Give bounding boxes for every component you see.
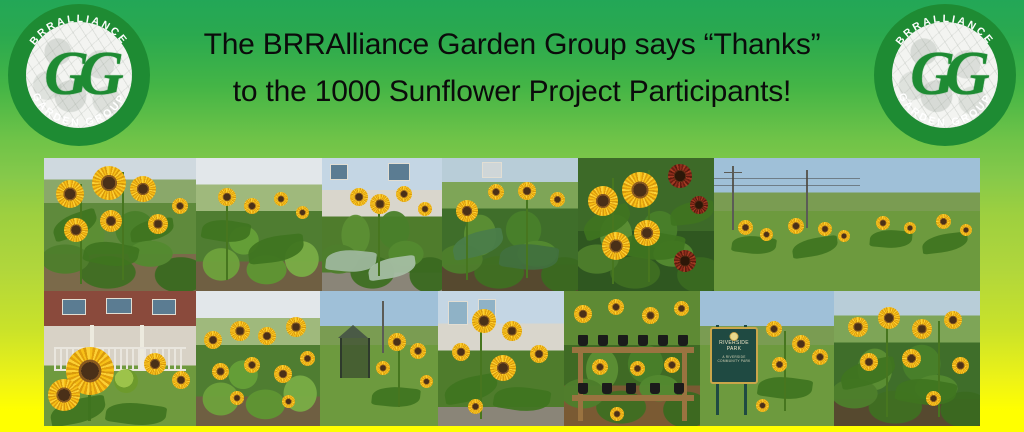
riverside-park-sign: RIVERSIDE PARK A RIVERSIDE COMMUNITY PAR… (710, 327, 758, 384)
stem (526, 188, 528, 278)
foliage-texture (442, 158, 578, 291)
headline-line-2: to the 1000 Sunflower Project Participan… (152, 69, 872, 116)
plant-pot (578, 335, 588, 346)
plant-pot (626, 383, 636, 394)
photo-p13: RIVERSIDE PARK A RIVERSIDE COMMUNITY PAR… (700, 291, 834, 426)
banner-headline: The BRRAlliance Garden Group says “Thank… (152, 22, 872, 115)
leaf (371, 385, 421, 410)
sunflower (258, 327, 276, 345)
plant-pot (674, 383, 684, 394)
sunflower (818, 222, 832, 236)
plant-shelf (572, 347, 694, 353)
sunflower (592, 359, 608, 375)
sunflower (848, 317, 868, 337)
sunflower (274, 192, 288, 206)
sunflower (936, 214, 951, 229)
utility-pole (382, 301, 384, 353)
sunflower (218, 188, 236, 206)
window (106, 298, 132, 314)
photo-p8 (44, 291, 196, 426)
sunflower (350, 188, 368, 206)
plant-pot (638, 335, 648, 346)
sunflower (792, 335, 810, 353)
photo-row-bottom: RIVERSIDE PARK A RIVERSIDE COMMUNITY PAR… (44, 291, 980, 426)
sunflower (766, 321, 782, 337)
plant-pot (658, 335, 668, 346)
leaf (492, 383, 551, 415)
sunflower (876, 216, 890, 230)
photo-p7 (860, 158, 980, 291)
photo-p3 (322, 158, 442, 291)
sunflower (756, 399, 769, 412)
sunflower (230, 321, 250, 341)
plant-pot (598, 335, 608, 346)
sunflower (490, 355, 516, 381)
sunflower (456, 200, 478, 222)
power-line (714, 185, 860, 186)
sunflower (282, 395, 295, 408)
photo-p10 (320, 291, 438, 426)
sunflower (518, 182, 536, 200)
sunflower (472, 309, 496, 333)
sunflower (952, 357, 969, 374)
gazebo-roof (338, 325, 368, 338)
sunflower (244, 357, 260, 373)
brralliance-garden-group-logo-left: GG BRRALLIANCE GARDEN GROUP (8, 4, 150, 146)
photo-p2 (196, 158, 322, 291)
plant-pot (618, 335, 628, 346)
sunflower (772, 357, 787, 372)
sunflower (902, 349, 921, 368)
sunflower (860, 353, 878, 371)
sunflower (602, 232, 630, 260)
sunflower (878, 307, 900, 329)
sunflower (838, 230, 850, 242)
park-sign-tree-emblem (730, 332, 739, 341)
plant-pot (602, 383, 612, 394)
sunflower (944, 311, 962, 329)
sunflower (812, 349, 828, 365)
window (152, 299, 176, 315)
sunflower-dark-red (690, 196, 708, 214)
sunflower (550, 192, 565, 207)
sunflower-dark-red (674, 250, 696, 272)
park-sign-line-2: PARK (712, 346, 756, 352)
photo-p1 (44, 158, 196, 291)
headline-line-1: The BRRAlliance Garden Group says “Thank… (152, 22, 872, 69)
sunflower (56, 180, 84, 208)
sunflower (574, 305, 592, 323)
sunflower (960, 224, 972, 236)
leaf (105, 399, 167, 426)
utility-pole (732, 166, 734, 230)
sunflower (664, 357, 680, 373)
sunflower (610, 407, 624, 421)
sunflower-bud (114, 369, 138, 393)
gazebo-body (340, 338, 370, 378)
photo-p5 (578, 158, 714, 291)
utility-pole-arm (724, 172, 742, 173)
sunflower-dark-red (668, 164, 692, 188)
photo-p12 (564, 291, 700, 426)
photo-collage: RIVERSIDE PARK A RIVERSIDE COMMUNITY PAR… (44, 158, 980, 426)
sunflower (420, 375, 433, 388)
sunflower (488, 184, 504, 200)
sunflower (608, 299, 624, 315)
sunflower (630, 361, 645, 376)
sunflower (212, 363, 229, 380)
sunflower (370, 194, 390, 214)
logo-disc-left: GG (26, 22, 132, 128)
window (388, 163, 410, 181)
sunflower (64, 218, 88, 242)
plant-pot (650, 383, 660, 394)
sunflower (926, 391, 941, 406)
sunflower (502, 321, 522, 341)
sunflower (410, 343, 426, 359)
stem (398, 343, 400, 407)
photo-p14 (834, 291, 980, 426)
sunflower (286, 317, 306, 337)
window (62, 299, 86, 315)
sunflower (622, 172, 658, 208)
sunflower (418, 202, 432, 216)
logo-monogram-left: GG (26, 43, 132, 105)
sunflower (760, 228, 773, 241)
window (482, 162, 502, 178)
stem (784, 331, 786, 411)
sunflower (788, 218, 804, 234)
sunflower (148, 214, 168, 234)
window (448, 301, 468, 325)
thank-you-banner: GG BRRALLIANCE GARDEN GROUP GG (0, 0, 1024, 432)
sunflower (530, 345, 548, 363)
sunflower (912, 319, 932, 339)
sunflower (642, 307, 659, 324)
brralliance-garden-group-logo-right: GG BRRALLIANCE GARDEN GROUP (874, 4, 1016, 146)
leaf (791, 235, 839, 259)
sunflower (244, 198, 260, 214)
photo-p9 (196, 291, 320, 426)
sunflower (738, 220, 753, 235)
window (330, 164, 348, 180)
sunflower (452, 343, 470, 361)
sunflower (300, 351, 315, 366)
power-line (714, 178, 860, 179)
plant-pot (578, 383, 588, 394)
sunflower (92, 166, 126, 200)
logo-monogram-right: GG (892, 43, 998, 105)
sunflower (172, 371, 190, 389)
sunflower (274, 365, 292, 383)
sunflower (396, 186, 412, 202)
sunflower (230, 391, 244, 405)
photo-row-top (44, 158, 980, 291)
sunflower (674, 301, 689, 316)
sunflower (296, 206, 309, 219)
sunflower (376, 361, 390, 375)
sunflower (144, 353, 166, 375)
park-sign-subtitle: A RIVERSIDE COMMUNITY PARK (712, 355, 756, 363)
photo-p4 (442, 158, 578, 291)
photo-p11 (438, 291, 564, 426)
sunflower (48, 379, 80, 411)
sunflower (100, 210, 122, 232)
sunflower (468, 399, 483, 414)
sunflower (634, 220, 660, 246)
sunflower (130, 176, 156, 202)
photo-p6 (714, 158, 860, 291)
sunflower (588, 186, 618, 216)
sunflower (388, 333, 406, 351)
logo-disc-right: GG (892, 22, 998, 128)
sunflower (904, 222, 916, 234)
plant-pot (678, 335, 688, 346)
sunflower (172, 198, 188, 214)
sunflower (204, 331, 222, 349)
plant-shelf (572, 395, 694, 401)
